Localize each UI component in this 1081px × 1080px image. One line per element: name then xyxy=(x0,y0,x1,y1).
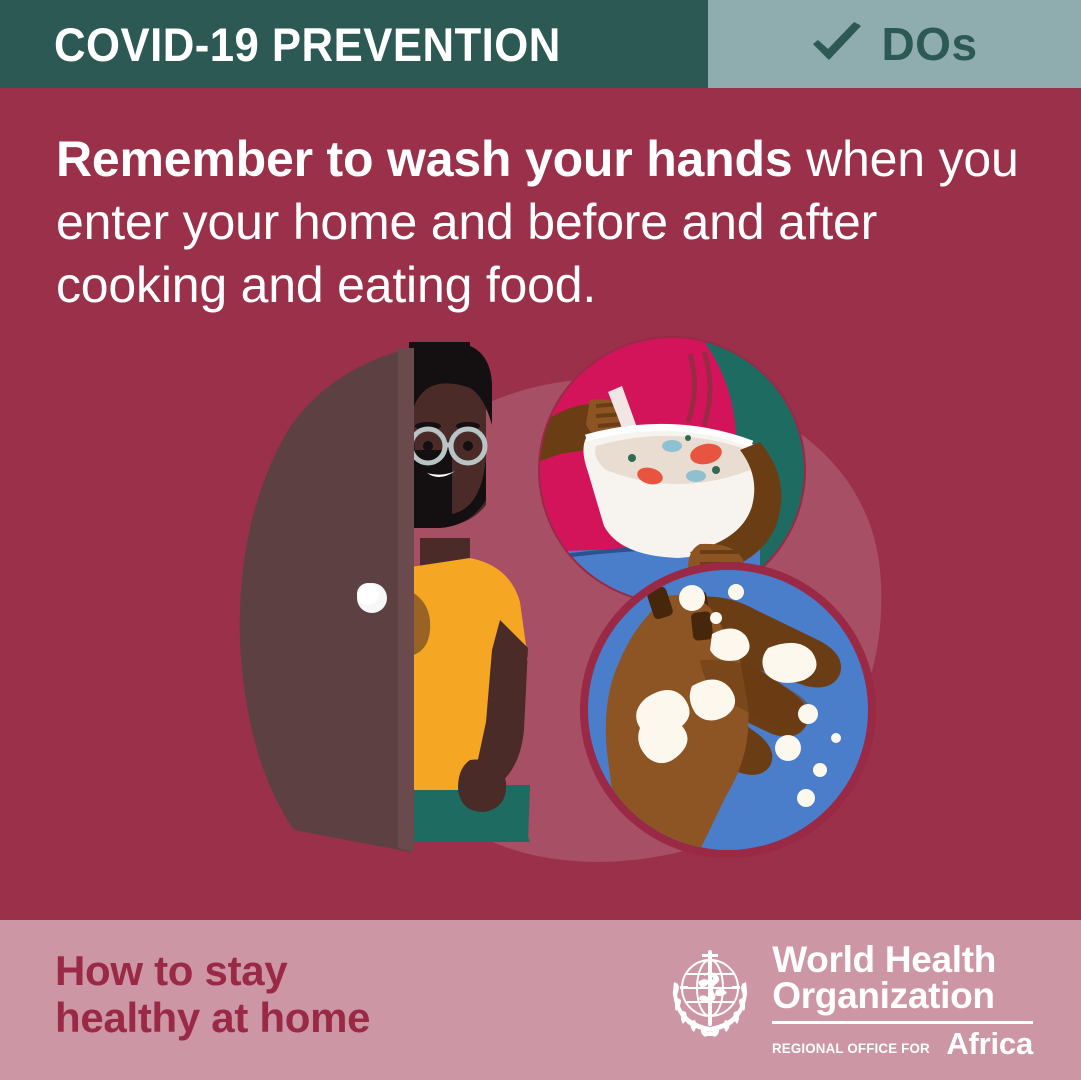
handwashing-circle-illustration xyxy=(580,562,876,858)
covid-prevention-poster: COVID-19 PREVENTION DOs Remember to wash… xyxy=(0,0,1081,1080)
who-divider xyxy=(772,1021,1033,1024)
header-title-bar: COVID-19 PREVENTION xyxy=(0,0,708,88)
illustration xyxy=(0,330,1081,920)
who-emblem-icon xyxy=(658,938,762,1042)
footer-tagline-line2: healthy at home xyxy=(55,994,370,1041)
who-region: REGIONAL OFFICE FOR Africa xyxy=(772,1029,1033,1059)
who-region-name: Africa xyxy=(946,1029,1033,1059)
dos-badge-label: DOs xyxy=(881,17,977,71)
poster-footer: How to stay healthy at home xyxy=(0,920,1081,1080)
who-region-label: REGIONAL OFFICE FOR xyxy=(772,1040,930,1059)
who-logo: World Health Organization REGIONAL OFFIC… xyxy=(658,938,1033,1059)
dos-badge: DOs xyxy=(708,0,1081,88)
headline-bold: Remember to wash your hands xyxy=(56,131,792,187)
headline-text: Remember to wash your hands when you ent… xyxy=(56,128,1041,317)
who-wordmark: World Health Organization REGIONAL OFFIC… xyxy=(772,938,1033,1059)
who-name-line2: Organization xyxy=(772,978,1033,1014)
door xyxy=(240,348,414,852)
poster-header: COVID-19 PREVENTION DOs xyxy=(0,0,1081,88)
page-title: COVID-19 PREVENTION xyxy=(54,17,561,72)
check-icon xyxy=(811,22,863,66)
who-name-line1: World Health xyxy=(772,942,1033,978)
footer-tagline-line1: How to stay xyxy=(55,947,370,994)
footer-tagline: How to stay healthy at home xyxy=(55,947,370,1041)
